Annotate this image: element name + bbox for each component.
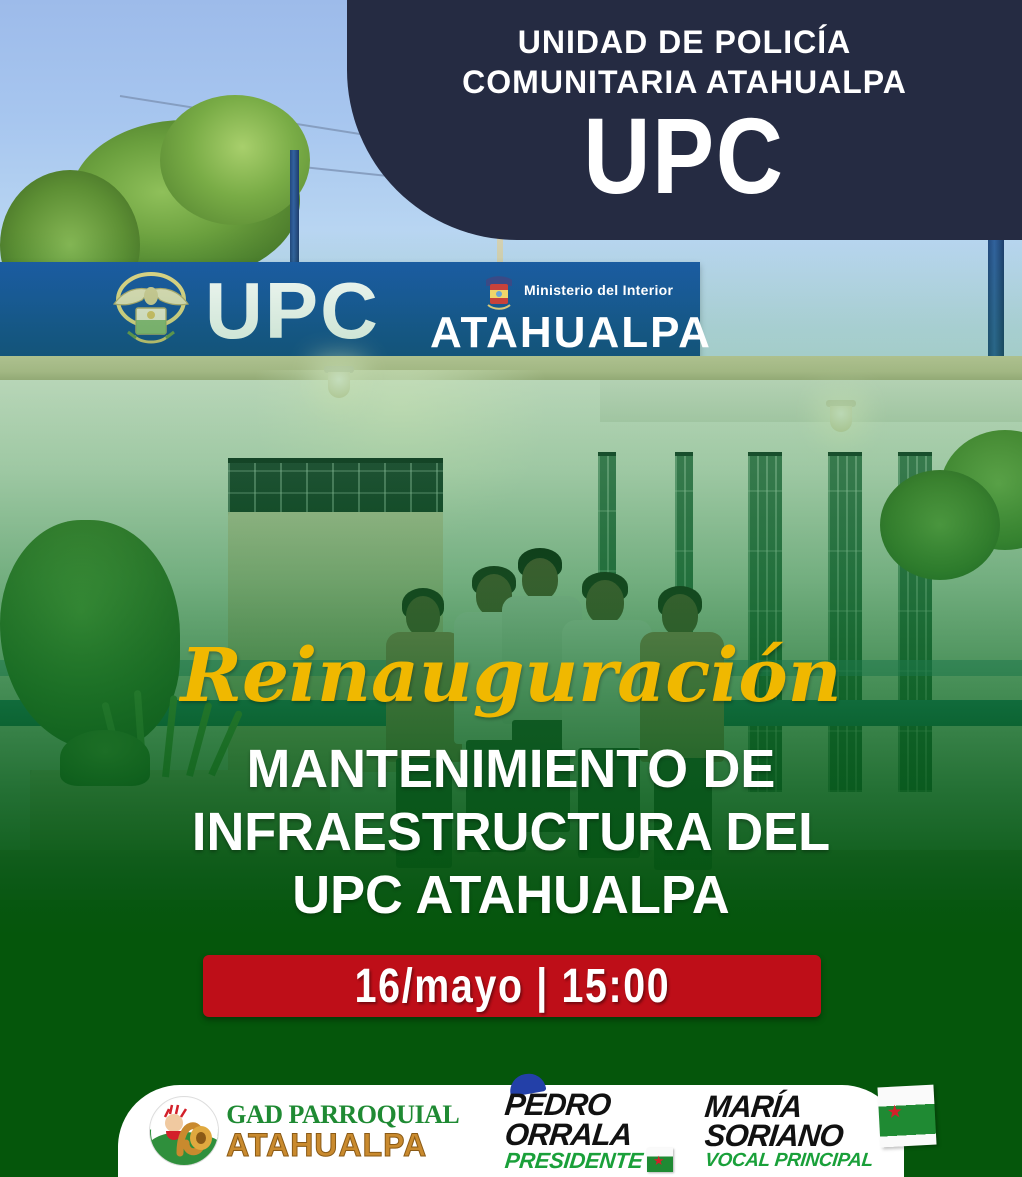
- pedro-name-line-1: PEDRO: [504, 1090, 645, 1119]
- headline-line-3: UPC ATAHUALPA: [15, 864, 1006, 927]
- maria-namecard: ★ MARÍA SORIANO VOCAL PRINCIPAL: [705, 1092, 873, 1171]
- footer-bar: GAD PARROQUIAL ATAHUALPA PEDRO ORRALA PR…: [118, 1085, 904, 1177]
- maria-name-line-2: SORIANO: [703, 1121, 874, 1150]
- logo-maria-soriano: ★ MARÍA SORIANO VOCAL PRINCIPAL: [705, 1092, 873, 1171]
- headline-line-1: MANTENIMIENTO DE: [15, 738, 1006, 801]
- gad-line-1: GAD PARROQUIAL: [226, 1102, 459, 1128]
- headline-line-2: INFRAESTRUCTURA DEL: [15, 801, 1006, 864]
- maria-name-line-1: MARÍA: [703, 1092, 874, 1121]
- pedro-name-line-2: ORRALA: [504, 1120, 645, 1149]
- script-label: Reinauguración: [0, 636, 1022, 716]
- gad-emblem-icon: [149, 1096, 219, 1166]
- gad-text: GAD PARROQUIAL ATAHUALPA: [226, 1102, 459, 1161]
- flag-icon: ★: [877, 1084, 936, 1147]
- logo-gad-parroquial: GAD PARROQUIAL ATAHUALPA: [149, 1096, 459, 1166]
- flag-chip-icon: ★: [647, 1148, 673, 1172]
- pedro-namecard: PEDRO ORRALA PRESIDENTE ★: [505, 1090, 643, 1172]
- headline: MANTENIMIENTO DE INFRAESTRUCTURA DEL UPC…: [0, 738, 1022, 927]
- logo-pedro-orrala: PEDRO ORRALA PRESIDENTE ★: [505, 1090, 643, 1172]
- date-badge: 16/mayo | 15:00: [203, 955, 821, 1017]
- content-layer: Reinauguración MANTENIMIENTO DE INFRAEST…: [0, 0, 1022, 1177]
- date-badge-text: 16/mayo | 15:00: [354, 959, 670, 1014]
- gad-line-2: ATAHUALPA: [226, 1129, 459, 1161]
- maria-role: VOCAL PRINCIPAL: [704, 1152, 874, 1170]
- pedro-role: PRESIDENTE: [504, 1151, 644, 1172]
- poster: UPC Ministerio del Interior ATAHUALPA: [0, 0, 1022, 1177]
